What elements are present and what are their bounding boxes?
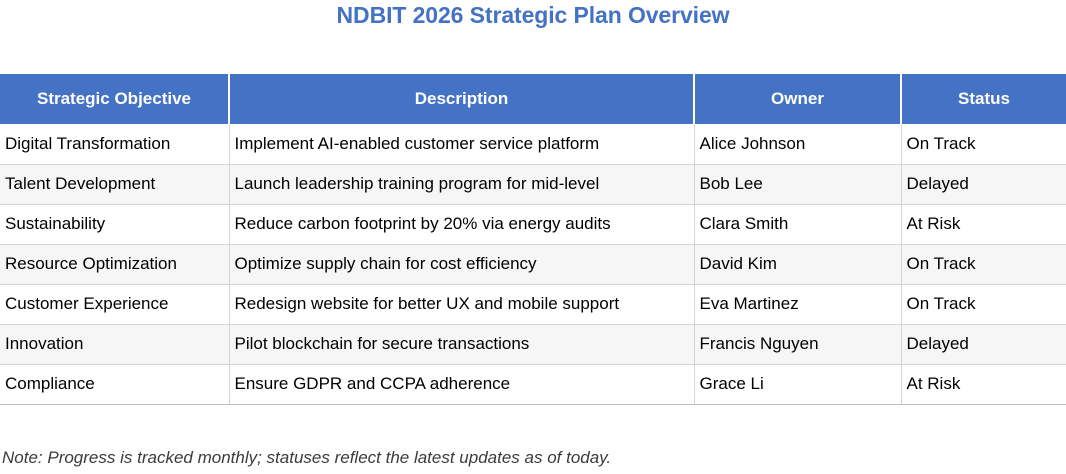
footnote: Note: Progress is tracked monthly; statu… <box>2 448 611 468</box>
cell-description-text: Launch leadership training program for m… <box>235 174 694 194</box>
cell-owner: Alice Johnson <box>694 124 901 164</box>
cell-status: On Track <box>901 244 1066 284</box>
cell-owner-text: Alice Johnson <box>700 134 901 154</box>
cell-description-text: Ensure GDPR and CCPA adherence <box>235 374 694 394</box>
cell-owner-text: Grace Li <box>700 374 901 394</box>
table-row[interactable]: Talent DevelopmentLaunch leadership trai… <box>0 164 1066 204</box>
cell-description: Implement AI-enabled customer service pl… <box>229 124 694 164</box>
cell-description-text: Redesign website for better UX and mobil… <box>235 294 694 314</box>
cell-objective: Customer Experience <box>0 284 229 324</box>
cell-objective: Digital Transformation <box>0 124 229 164</box>
cell-status: Delayed <box>901 324 1066 364</box>
cell-owner: Grace Li <box>694 364 901 404</box>
page-title: NDBIT 2026 Strategic Plan Overview <box>0 0 1066 30</box>
cell-objective: Innovation <box>0 324 229 364</box>
column-header-status[interactable]: Status <box>901 74 1066 124</box>
table-body: Digital TransformationImplement AI-enabl… <box>0 124 1066 404</box>
cell-objective: Compliance <box>0 364 229 404</box>
strategic-plan-table-container: Strategic Objective Description Owner St… <box>0 74 1066 405</box>
cell-description-text: Pilot blockchain for secure transactions <box>235 334 694 354</box>
cell-status: At Risk <box>901 204 1066 244</box>
cell-owner: David Kim <box>694 244 901 284</box>
table-header-row: Strategic Objective Description Owner St… <box>0 74 1066 124</box>
cell-owner: Francis Nguyen <box>694 324 901 364</box>
status-badge: On Track <box>907 294 1066 314</box>
table-row[interactable]: ComplianceEnsure GDPR and CCPA adherence… <box>0 364 1066 404</box>
status-badge: At Risk <box>907 214 1066 234</box>
column-header-owner[interactable]: Owner <box>694 74 901 124</box>
status-badge: On Track <box>907 254 1066 274</box>
cell-owner-text: Bob Lee <box>700 174 901 194</box>
cell-description: Ensure GDPR and CCPA adherence <box>229 364 694 404</box>
cell-status: At Risk <box>901 364 1066 404</box>
status-badge: Delayed <box>907 174 1066 194</box>
table-row[interactable]: InnovationPilot blockchain for secure tr… <box>0 324 1066 364</box>
cell-description: Redesign website for better UX and mobil… <box>229 284 694 324</box>
cell-description-text: Optimize supply chain for cost efficienc… <box>235 254 694 274</box>
table-row[interactable]: Customer ExperienceRedesign website for … <box>0 284 1066 324</box>
table-row[interactable]: SustainabilityReduce carbon footprint by… <box>0 204 1066 244</box>
cell-description: Optimize supply chain for cost efficienc… <box>229 244 694 284</box>
cell-owner: Clara Smith <box>694 204 901 244</box>
column-header-objective[interactable]: Strategic Objective <box>0 74 229 124</box>
cell-objective: Resource Optimization <box>0 244 229 284</box>
cell-description: Pilot blockchain for secure transactions <box>229 324 694 364</box>
cell-owner-text: David Kim <box>700 254 901 274</box>
cell-description-text: Reduce carbon footprint by 20% via energ… <box>235 214 694 234</box>
cell-owner-text: Clara Smith <box>700 214 901 234</box>
table-row[interactable]: Digital TransformationImplement AI-enabl… <box>0 124 1066 164</box>
table-header: Strategic Objective Description Owner St… <box>0 74 1066 124</box>
status-badge: On Track <box>907 134 1066 154</box>
cell-description-text: Implement AI-enabled customer service pl… <box>235 134 694 154</box>
status-badge: Delayed <box>907 334 1066 354</box>
column-header-description[interactable]: Description <box>229 74 694 124</box>
cell-objective: Talent Development <box>0 164 229 204</box>
cell-owner: Eva Martinez <box>694 284 901 324</box>
table-row[interactable]: Resource OptimizationOptimize supply cha… <box>0 244 1066 284</box>
cell-owner: Bob Lee <box>694 164 901 204</box>
cell-status: On Track <box>901 124 1066 164</box>
cell-owner-text: Eva Martinez <box>700 294 901 314</box>
cell-status: On Track <box>901 284 1066 324</box>
cell-description: Launch leadership training program for m… <box>229 164 694 204</box>
status-badge: At Risk <box>907 374 1066 394</box>
cell-objective: Sustainability <box>0 204 229 244</box>
cell-owner-text: Francis Nguyen <box>700 334 901 354</box>
cell-description: Reduce carbon footprint by 20% via energ… <box>229 204 694 244</box>
cell-status: Delayed <box>901 164 1066 204</box>
strategic-plan-table: Strategic Objective Description Owner St… <box>0 74 1066 405</box>
